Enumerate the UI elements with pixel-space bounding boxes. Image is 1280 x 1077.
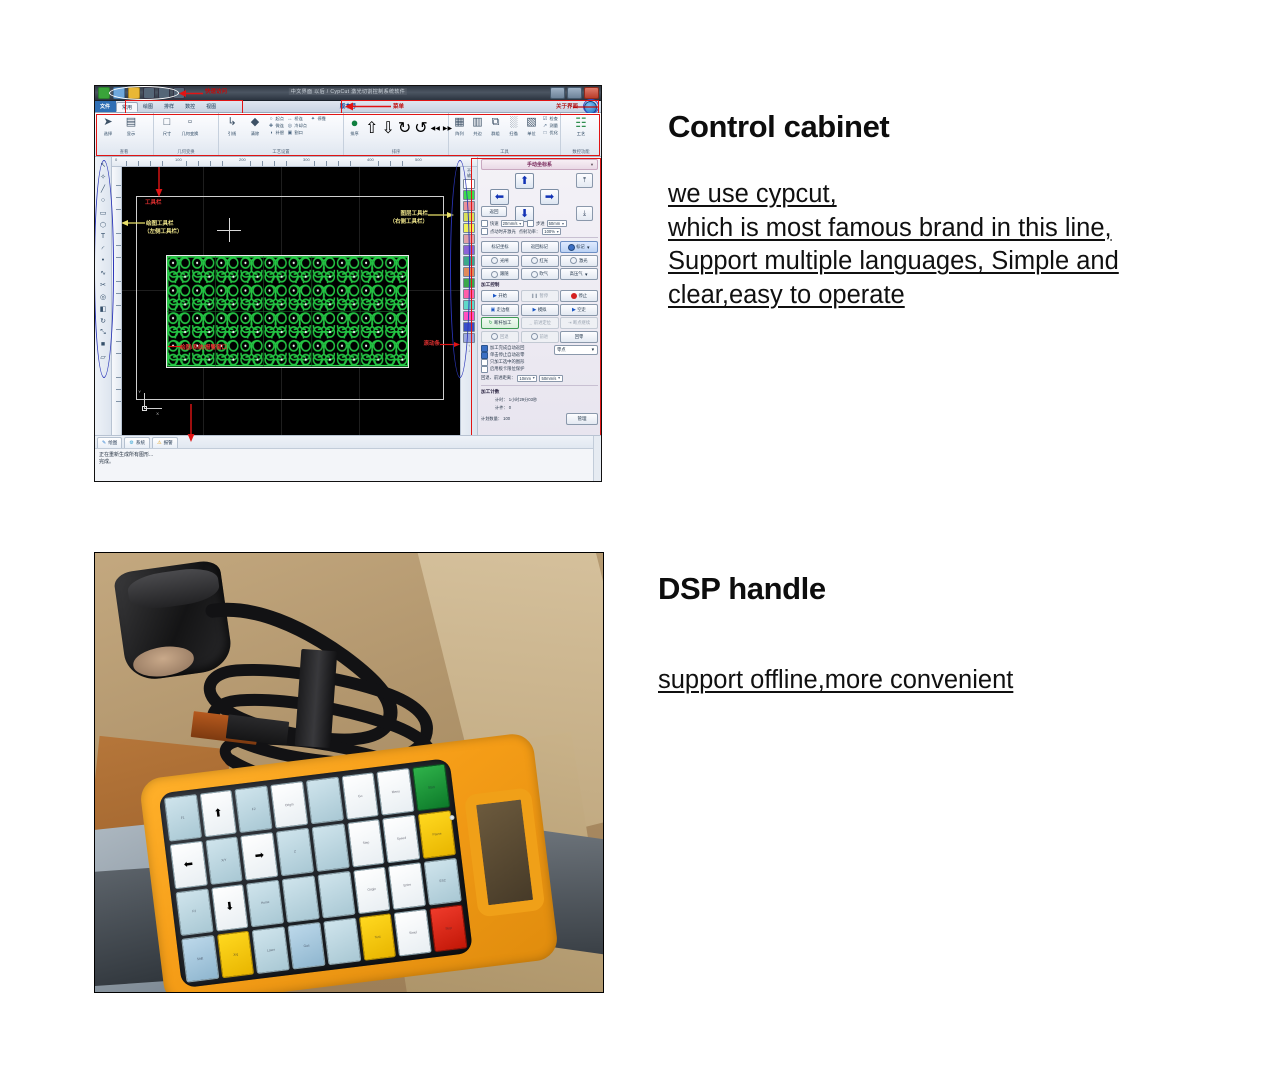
limit-protect-label: 启用板卡限位保护 (490, 366, 524, 372)
ahead-icon (531, 333, 538, 340)
circle-icon[interactable]: ○ (97, 195, 110, 206)
control-cabinet-line-3: clear,easy to operate (668, 279, 1119, 313)
microjoint-label: 微连 (276, 123, 284, 129)
stop-button[interactable]: 停止 (560, 290, 598, 302)
manual-control-panel[interactable]: 手动坐标系 ▼ ⬆ ⬇ ⬅ ➡ ⤒ ⤓ 返回 快速 (477, 157, 601, 435)
stat-count-row: 计件： 0 (481, 405, 598, 411)
pendant-key-25[interactable]: Jog (216, 931, 254, 979)
close-icon[interactable] (584, 87, 599, 99)
stop-icon (571, 293, 577, 299)
pendant-key-4[interactable] (306, 777, 344, 825)
tab-drawing[interactable]: ✎ 绘图 (97, 437, 122, 448)
selected-only-row[interactable]: 只加工选中的图形 (481, 359, 552, 366)
layer-chip-14[interactable] (463, 333, 475, 343)
system-icon: ⚙ (129, 440, 133, 446)
panel-title-bar[interactable]: 手动坐标系 ▼ (481, 159, 598, 170)
layer-chip-11[interactable] (463, 300, 475, 310)
back-icon (491, 333, 498, 340)
array-icon: ▦ (452, 115, 467, 130)
pendant-key-5[interactable]: Go (341, 772, 379, 820)
transform-button[interactable]: ▫ 几何变换 (180, 115, 200, 137)
limit-protect-row[interactable]: 启用板卡限位保护 (481, 366, 552, 373)
stop-autozero-checkbox[interactable] (481, 352, 488, 359)
blow-button[interactable]: 吹气 (521, 268, 559, 280)
layer-chip-13[interactable] (463, 322, 475, 332)
palette-down-icon[interactable]: ↓ (468, 349, 470, 353)
retreat-button[interactable]: 回退 (481, 331, 519, 343)
laser-control-grid[interactable]: 标记坐标 返回标记 标记 ▼ 光闸 红光 (481, 241, 598, 280)
jog-dpad[interactable]: ⬆ ⬇ ⬅ ➡ ⤒ ⤓ 返回 快速 20mm/s▼ (481, 172, 598, 234)
chevron-down-icon[interactable]: ▼ (590, 162, 594, 167)
stat-time-value: 1小时29分03秒 (509, 397, 537, 402)
distance-value-1[interactable]: 10mm▼ (517, 375, 537, 382)
pendant-key-18[interactable]: Home (246, 879, 284, 927)
axis-y-label: Y (138, 389, 141, 394)
selected-only-label: 只加工选中的图形 (490, 359, 524, 365)
pendant-key-6[interactable]: Menu (377, 768, 415, 816)
pendant-key-2[interactable]: F2 (235, 785, 273, 833)
pendant-key-29[interactable]: Test (358, 913, 396, 961)
pendant-key-0[interactable]: F1 (164, 794, 202, 842)
step-value[interactable]: 50mm▼ (547, 220, 567, 227)
control-cabinet-screenshot: 中文界面 以后 / CypCut 激光切割控制系统软件 快速访问 文件 常用 绘… (94, 85, 602, 482)
bridge-item[interactable]: ↔ 桥连 (287, 116, 307, 122)
size-icon: □ (160, 115, 175, 130)
optimize-label: 优化 (550, 130, 558, 136)
layer-chip-10[interactable] (463, 289, 475, 299)
array-button[interactable]: ▦ 阵列 (452, 115, 467, 137)
rotate-icon[interactable]: ↻ (97, 315, 110, 326)
pendant-key-26[interactable]: Laser (252, 926, 290, 974)
stat-time-label: 计时： (495, 397, 508, 402)
minimize-icon[interactable] (550, 87, 565, 99)
pulse-power-label: 点射功率： (519, 229, 540, 235)
distance-row[interactable]: 回退、前进距离： 10mm▼ 50mm/s▼ (481, 375, 598, 382)
laser-on-jog-checkbox[interactable] (481, 228, 488, 235)
canvas-wrapper: 0 100 200 300 400 500 (112, 157, 477, 435)
stat-count-label: 计件： (495, 405, 508, 410)
bridge-label: 桥连 (294, 116, 302, 122)
palette-label-1: 输 (467, 174, 471, 178)
shutter-lamp-icon (491, 257, 498, 264)
microjoint-item[interactable]: ✚ 微连 (268, 123, 284, 129)
eraser-icon[interactable]: ▱ (97, 351, 110, 362)
dry-icon: ▶ (572, 307, 576, 313)
mode-select[interactable]: 零点 ▼ (554, 345, 598, 355)
layer-chip-5[interactable] (463, 234, 475, 244)
layer-palette-toolbar[interactable]: 不 输 (460, 167, 477, 435)
stat-plan-label: 计划数量： (481, 416, 502, 421)
ribbon-group-craft: ↳ 引线 ◆ 清除 ○ 起点 ✚ 微连 (219, 113, 344, 156)
layer-chip-0[interactable] (463, 179, 475, 189)
sort-desc-icon[interactable]: ⇩ (381, 118, 394, 138)
size-button[interactable]: □ 尺寸 (157, 115, 177, 137)
mark-chevron-icon[interactable]: ▼ (586, 245, 590, 250)
panel-divider-2 (481, 385, 598, 386)
group-label-geometry: 几何变换 (157, 149, 215, 156)
seal-item[interactable]: ◎ 冷却点 (287, 123, 307, 129)
layer-chip-9[interactable] (463, 278, 475, 288)
pendant-key-stop[interactable]: Stop (430, 904, 468, 952)
sort-button[interactable]: ● 排序 (347, 115, 362, 137)
pendant-key-13[interactable]: Step (347, 819, 385, 867)
mode-select-value: 零点 (557, 347, 566, 353)
scan-button[interactable]: ░ 扫描 (506, 115, 521, 137)
pendant-key-right[interactable]: ➡ (240, 832, 278, 880)
fwd-icon: → (528, 321, 532, 326)
window-controls[interactable] (550, 87, 599, 99)
ribbon-group-geometry: □ 尺寸 ▫ 几何变换 几何变换 (154, 113, 219, 156)
craft-small-col-2: ↔ 桥连 ◎ 冷却点 ▣ 割口 (287, 115, 307, 136)
cad-canvas[interactable]: X Y 工具栏 绘图工具栏 （左侧工具栏） (122, 167, 460, 435)
measure-label: 测量 (550, 123, 558, 129)
control-cabinet-line-1: which is most famous brand in this line, (668, 212, 1119, 246)
unit-button[interactable]: ▧ 单位 (524, 115, 539, 137)
workspace: ↖ ✧ ╱ ○ ▭ ⬡ T ◜ • ∿ ✂ ◎ ◧ ↻ ⤡ ■ ▱ (95, 157, 601, 435)
resume-cut-button[interactable]: ↻ 断杆加工 (481, 317, 519, 329)
simulate-button[interactable]: ▶ 模拟 (521, 304, 559, 316)
auto-return-row[interactable]: 加工完成自动返回 (481, 345, 552, 352)
leadin-caption: 引线 (228, 131, 236, 137)
layer-chip-6[interactable] (463, 245, 475, 255)
fast-option-row[interactable]: 快速 20mm/s▼ (481, 220, 524, 227)
ruler-tick-5: 500 (415, 157, 422, 162)
redlight-button[interactable]: 红光 (521, 255, 559, 267)
group-button[interactable]: ⧉ 群组 (488, 115, 503, 137)
tab-nest[interactable]: 排样 (159, 101, 180, 112)
measure-item[interactable]: ↗ 测量 (542, 123, 558, 129)
ruler-tick-1: 100 (175, 157, 182, 162)
fast-checkbox[interactable] (481, 220, 488, 227)
size-caption: 尺寸 (163, 131, 171, 137)
kerf-label: 割口 (294, 130, 302, 136)
check-item[interactable]: ☑ 检查 (542, 116, 558, 122)
layer-chip-3[interactable] (463, 212, 475, 222)
stat-plan-row: 计划数量： 100 (481, 416, 510, 422)
breakpoint-continue-button[interactable]: ⇥ 断点继续 (560, 317, 598, 329)
layer-chip-7[interactable] (463, 256, 475, 266)
compensate-item[interactable]: ◑ 补偿 (268, 130, 284, 136)
dsp-handle-copy: DSP handle support offline,more convenie… (658, 572, 1013, 698)
jog-right-button[interactable]: ➡ (540, 189, 559, 205)
pause-icon: ❚❚ (531, 293, 538, 299)
text-icon[interactable]: T (97, 231, 110, 242)
z-down-button[interactable]: ⤓ (576, 206, 593, 221)
compensate-icon: ◑ (268, 130, 274, 136)
pendant-key-19[interactable] (282, 875, 320, 923)
bp-icon: ⇥ (568, 320, 572, 326)
transform-icon: ▫ (183, 115, 198, 130)
select-button[interactable]: ➤ 选择 (98, 115, 118, 137)
display-button[interactable]: ▤ 显示 (121, 115, 141, 137)
part-geometry[interactable] (166, 255, 409, 368)
unit-icon: ▧ (524, 115, 539, 130)
return-button[interactable]: 返回 (481, 206, 507, 217)
pendant-key-27[interactable]: Gas (287, 922, 325, 970)
window-title-bar: 中文界面 以后 / CypCut 激光切割控制系统软件 (95, 86, 601, 101)
seal-icon: ◎ (287, 123, 293, 129)
tab-common[interactable]: 常用 (116, 102, 138, 112)
dsp-handle-heading: DSP handle (658, 572, 1013, 606)
pendant-keypad[interactable]: F1 ⬆ F2 Origin Go Menu Start ⬅ X/Y ➡ Z (164, 763, 468, 982)
layer-chip-12[interactable] (463, 311, 475, 321)
laser-on-jog-row[interactable]: 点动时开激光 (481, 228, 516, 235)
group-label-craft: 工艺设置 (222, 149, 340, 156)
layer-chip-8[interactable] (463, 267, 475, 277)
pendant-key-14[interactable]: Speed (382, 815, 420, 863)
bezier-icon[interactable]: ∿ (97, 267, 110, 278)
jog-left-button[interactable]: ⬅ (490, 189, 509, 205)
return-mark-button[interactable]: 返回标记 (521, 241, 559, 253)
axis-x-label: X (156, 411, 159, 416)
craft-small-col-3: ✦ 停靠 (310, 115, 326, 122)
mark-button[interactable]: 标记 ▼ (560, 241, 598, 253)
control-cabinet-line-0: we use cypcut, (668, 178, 1119, 212)
vertical-ruler (112, 167, 122, 435)
startpoint-icon: ○ (268, 116, 274, 122)
pulse-power-value[interactable]: 100%▼ (542, 228, 561, 235)
quick-access-annotation-ellipse (109, 86, 179, 100)
mode-chevron-icon[interactable]: ▼ (591, 347, 595, 352)
pendant-key-30[interactable]: Simul (394, 909, 432, 957)
cooling-item[interactable]: ✦ 停靠 (310, 116, 326, 122)
pendant-key-28[interactable] (323, 917, 361, 965)
dryrun-button[interactable]: ▶ 空走 (560, 304, 598, 316)
home-button[interactable]: 回零 (560, 331, 598, 343)
kerf-item[interactable]: ▣ 割口 (287, 130, 307, 136)
display-caption: 显示 (127, 131, 135, 137)
transform-caption: 几何变换 (182, 131, 199, 137)
gas-chevron-icon[interactable]: ▼ (584, 272, 588, 277)
advance-button[interactable]: 前进 (521, 331, 559, 343)
process-control-grid[interactable]: ▶ 开始 ❚❚ 暂停 停止 ▣ 走边框 (481, 290, 598, 343)
offset-icon[interactable]: ◎ (97, 291, 110, 302)
node-edit-icon[interactable]: ✧ (97, 171, 110, 182)
window-title-text: 中文界面 以后 / CypCut 激光切割控制系统软件 (289, 88, 407, 95)
pendant-key-down[interactable]: ⬇ (211, 884, 249, 932)
tab-file[interactable]: 文件 (95, 101, 116, 112)
slide-canvas: 中文界面 以后 / CypCut 激光切割控制系统软件 快速访问 文件 常用 绘… (0, 0, 1280, 1077)
mark-coord-button[interactable]: 标记坐标 (481, 241, 519, 253)
follow-lamp-icon (491, 271, 498, 278)
limit-protect-checkbox[interactable] (481, 366, 488, 373)
tab-system[interactable]: ⚙ 系统 (124, 437, 150, 448)
tab-view[interactable]: 视图 (201, 101, 222, 112)
pendant-key-9[interactable]: X/Y (205, 837, 243, 885)
optimize-icon: □ (542, 130, 548, 136)
tab-draw[interactable]: 绘图 (138, 101, 159, 112)
erase-icon: ◆ (248, 115, 263, 130)
fill-icon[interactable]: ■ (97, 339, 110, 350)
optimize-item[interactable]: □ 优化 (542, 130, 558, 136)
pointer-icon[interactable]: ↖ (97, 159, 110, 170)
align-button[interactable]: ▥ 共边 (470, 115, 485, 137)
dsp-handle-line-0: support offline,more convenient (658, 664, 1013, 698)
startpoint-label: 起点 (276, 116, 284, 122)
frame-button[interactable]: ▣ 走边框 (481, 304, 519, 316)
align-icon: ▥ (470, 115, 485, 130)
control-cabinet-heading: Control cabinet (668, 110, 1119, 144)
check-label: 检查 (550, 116, 558, 122)
pulse-power-row[interactable]: 点射功率： 100%▼ (519, 228, 562, 235)
sim-icon: ▶ (533, 307, 537, 313)
log-panel: 正在重新生成所有图形... 完成。 (95, 449, 601, 470)
stats-section-title: 加工计数 (481, 389, 598, 395)
laser-button[interactable]: 激光 (560, 255, 598, 267)
seal-label: 冷却点 (294, 123, 307, 129)
pendant-key-up[interactable]: ⬆ (199, 790, 237, 838)
mirror-icon[interactable]: ◧ (97, 303, 110, 314)
document-tabs[interactable]: ✎ 绘图 ⚙ 系统 ⚠ 报警 (95, 436, 601, 449)
ruler-tick-0: 0 (115, 157, 117, 162)
ribbon[interactable]: ➤ 选择 ▤ 显示 查看 □ 尺寸 ▫ (95, 113, 601, 157)
auto-return-label: 加工完成自动返回 (490, 345, 524, 351)
highpressure-gas-button[interactable]: 高压气 ▼ (560, 268, 598, 280)
forward-locate-button[interactable]: → 前进定位 (521, 317, 559, 329)
arc-icon[interactable]: ◜ (97, 243, 110, 254)
tab-alarm[interactable]: ⚠ 报警 (152, 437, 178, 448)
craft-button[interactable]: ☷ 工艺 (571, 115, 591, 137)
sort-caption: 排序 (350, 131, 358, 137)
drawing-icon: ✎ (102, 440, 106, 446)
pendant-key-11[interactable]: Z (276, 828, 314, 876)
sort-reverse-icon[interactable]: ↺ (414, 118, 427, 138)
ruler-tick-4: 400 (367, 157, 374, 162)
pendant-key-20[interactable] (317, 870, 355, 918)
bridge-icon: ↔ (287, 116, 293, 122)
pendant-key-12[interactable] (311, 823, 349, 871)
step-back-icon[interactable]: ◀◀ (431, 125, 440, 132)
tab-cnc[interactable]: 数控 (180, 101, 201, 112)
microjoint-icon: ✚ (268, 123, 274, 129)
group-label-view: 查看 (98, 149, 150, 156)
cooling-icon: ✦ (310, 116, 316, 122)
stop-autozero-label: 单击停止自动返零 (490, 352, 524, 358)
pendant-key-3[interactable]: Origin (270, 781, 308, 829)
tab-alarm-label: 报警 (164, 440, 173, 446)
control-cabinet-copy: Control cabinet we use cypcut, which is … (668, 110, 1119, 313)
left-drawing-toolbar[interactable]: ↖ ✧ ╱ ○ ▭ ⬡ T ◜ • ∿ ✂ ◎ ◧ ↻ ⤡ ■ ▱ (95, 157, 112, 435)
help-annotation-ellipse (583, 99, 599, 114)
bottom-status-area: ✎ 绘图 ⚙ 系统 ⚠ 报警 正在重新生成所有图形... 完成。 (95, 435, 601, 481)
sort-asc-icon[interactable]: ⇧ (365, 118, 378, 138)
group-label-cnc: 数控功能 (564, 149, 598, 156)
step-label: 步进 (536, 221, 545, 227)
select-caption: 选择 (104, 131, 112, 137)
cooling-label: 停靠 (317, 116, 325, 122)
pendant-key-esc[interactable]: ESC (424, 857, 462, 905)
leadin-button[interactable]: ↳ 引线 (222, 115, 242, 137)
polygon-icon[interactable]: ⬡ (97, 219, 110, 230)
layer-chip-1[interactable] (463, 190, 475, 200)
trim-icon[interactable]: ✂ (97, 279, 110, 290)
point-icon[interactable]: • (97, 255, 110, 266)
layer-chip-2[interactable] (463, 201, 475, 211)
scale-icon[interactable]: ⤡ (97, 327, 110, 338)
z-up-button[interactable]: ⤒ (576, 173, 593, 188)
pendant-key-start[interactable]: Start (412, 763, 450, 811)
maximize-icon[interactable] (567, 87, 582, 99)
craft-icon: ☷ (574, 115, 589, 130)
auto-return-checkbox[interactable] (481, 345, 488, 352)
laser-on-jog-label: 点动时开激光 (490, 229, 516, 235)
craft-small-col-1: ○ 起点 ✚ 微连 ◑ 补偿 (268, 115, 284, 136)
pendant-keypad-face[interactable]: F1 ⬆ F2 Origin Go Menu Start ⬅ X/Y ➡ Z (158, 758, 473, 989)
stat-count-value: 0 (509, 405, 511, 410)
mark-indicator-icon (568, 244, 575, 251)
process-section-title: 加工控制 (481, 282, 598, 288)
sort-manual-icon[interactable]: ↻ (398, 118, 411, 138)
step-checkbox[interactable] (527, 220, 534, 227)
scan-caption: 扫描 (509, 131, 517, 137)
jog-up-button[interactable]: ⬆ (515, 173, 534, 189)
pause-button[interactable]: ❚❚ 暂停 (521, 290, 559, 302)
check-icon: ☑ (542, 116, 548, 122)
start-button[interactable]: ▶ 开始 (481, 290, 519, 302)
log-scrollbar[interactable] (593, 436, 601, 481)
sort-icon-row: ⇧ ⇩ ↻ ↺ ◀◀ ▶▶ (365, 115, 452, 138)
group-icon: ⧉ (488, 115, 503, 130)
array-caption: 阵列 (455, 131, 463, 137)
redlight-lamp-icon (531, 257, 538, 264)
blow-lamp-icon (531, 271, 538, 278)
origin-axis-marker: X Y (142, 391, 162, 411)
ribbon-group-sort: ● 排序 ⇧ ⇩ ↻ ↺ ◀◀ ▶▶ 排序 (344, 113, 449, 156)
rect-icon[interactable]: ▭ (97, 207, 110, 218)
group-label-sort: 排序 (347, 149, 445, 156)
pendant-key-22[interactable]: Enter (388, 862, 426, 910)
ribbon-group-cnc: ☷ 工艺 数控功能 (561, 113, 601, 156)
tab-drawing-label: 绘图 (108, 440, 117, 446)
panel-title: 手动坐标系 (527, 161, 552, 168)
pendant-key-left[interactable]: ⬅ (169, 841, 207, 889)
pendant-key-24[interactable]: Shift (181, 935, 219, 983)
distance-value-2[interactable]: 50mm/s▼ (539, 375, 562, 382)
pendant-key-21[interactable]: Origin (353, 866, 391, 914)
line-icon[interactable]: ╱ (97, 183, 110, 194)
erase-caption: 清除 (251, 131, 259, 137)
log-line-0: 正在重新生成所有图形... (99, 452, 597, 459)
unit-caption: 单位 (527, 131, 535, 137)
version-annotation-label: 版本号 (340, 102, 357, 110)
startpoint-item[interactable]: ○ 起点 (268, 116, 284, 122)
about-annotation-label: 关于界面 (556, 102, 578, 110)
shutter-button[interactable]: 光闸 (481, 255, 519, 267)
erase-button[interactable]: ◆ 清除 (245, 115, 265, 137)
cursor-crosshair (217, 218, 241, 242)
ruler-tick-2: 200 (239, 157, 246, 162)
follow-button[interactable]: 跟随 (481, 268, 519, 280)
step-option-row[interactable]: 步进 50mm▼ (527, 220, 567, 227)
pendant-key-16[interactable]: F3 (175, 888, 213, 936)
ribbon-group-view: ➤ 选择 ▤ 显示 查看 (95, 113, 154, 156)
cursor-icon: ➤ (101, 115, 116, 130)
process-options-row: 加工完成自动返回 单击停止自动返零 只加工选中的图形 启用板卡限位保护 (481, 345, 598, 373)
display-icon: ▤ (124, 115, 139, 130)
group-label-tools: 工具 (452, 149, 557, 156)
layer-chip-4[interactable] (463, 223, 475, 233)
stat-time-row: 计时： 1小时29分03秒 (481, 397, 598, 403)
photo-scene: F1 ⬆ F2 Origin Go Menu Start ⬅ X/Y ➡ Z (95, 553, 603, 992)
stop-autozero-row[interactable]: 单击停止自动返零 (481, 352, 552, 359)
fast-value[interactable]: 20mm/s▼ (501, 220, 524, 227)
manage-button[interactable]: 管理 (566, 413, 598, 425)
control-cabinet-line-2: Support multiple languages, Simple and (668, 245, 1119, 279)
velcro-strap (295, 648, 337, 747)
selected-only-checkbox[interactable] (481, 359, 488, 366)
measure-icon: ↗ (542, 123, 548, 129)
ruler-tick-3: 300 (303, 157, 310, 162)
